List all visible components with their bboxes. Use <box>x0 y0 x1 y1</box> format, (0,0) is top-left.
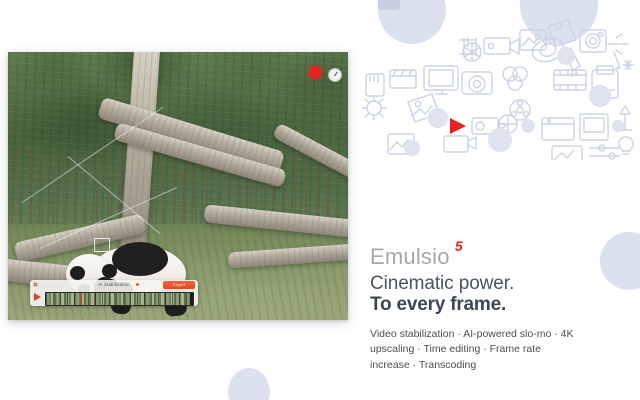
color-wheel-icon <box>503 67 527 90</box>
marketing-panel: Emulsio 5 Cinematic power. To every fram… <box>370 246 620 373</box>
status-dot-icon <box>136 283 139 286</box>
memory-icon <box>542 118 574 140</box>
camera-icon <box>580 30 606 52</box>
timeline-end-marker <box>190 293 193 305</box>
tracking-box <box>94 238 110 252</box>
brand-name: Emulsio <box>370 244 450 269</box>
flash-icon <box>608 34 628 68</box>
timeline-filmstrip[interactable] <box>45 292 194 306</box>
sun-icon <box>362 96 386 120</box>
aperture-icon <box>463 43 481 61</box>
video-preview-window[interactable]: AI Stabilization Export <box>8 52 348 320</box>
slider-icon <box>590 145 620 159</box>
tagline-line-2: To every frame. <box>370 294 620 315</box>
camera-body-icon <box>462 72 492 94</box>
play-button[interactable] <box>34 293 41 301</box>
feature-list: Video stabilization · AI-powered slo-mo … <box>370 327 575 374</box>
tripod-icon <box>460 38 476 56</box>
panda-subject <box>60 238 196 318</box>
bulb-icon <box>619 137 633 154</box>
video-icon <box>444 136 476 152</box>
sd-card-icon <box>366 74 384 96</box>
play-icon <box>450 118 466 134</box>
record-dot-icon <box>309 66 322 79</box>
brand-version: 5 <box>455 239 463 253</box>
brand-logo: Emulsio 5 <box>370 246 450 268</box>
filmstrip-icon <box>554 70 586 90</box>
decor-circle <box>228 368 270 400</box>
playback-control-bar[interactable]: AI Stabilization Export <box>30 280 198 306</box>
gauge-icon[interactable] <box>328 68 342 82</box>
video-camera-icon <box>484 38 519 54</box>
clapperboard-icon <box>390 70 416 88</box>
tagline-line-1: Cinematic power. <box>370 273 620 294</box>
export-button[interactable]: Export <box>163 281 195 289</box>
magic-wand-icon <box>623 60 633 70</box>
icon-cloud <box>352 8 640 160</box>
monitor-icon <box>424 66 458 94</box>
gallery-icon <box>552 146 582 160</box>
playhead[interactable] <box>80 293 81 305</box>
polaroid-icon <box>580 114 608 140</box>
